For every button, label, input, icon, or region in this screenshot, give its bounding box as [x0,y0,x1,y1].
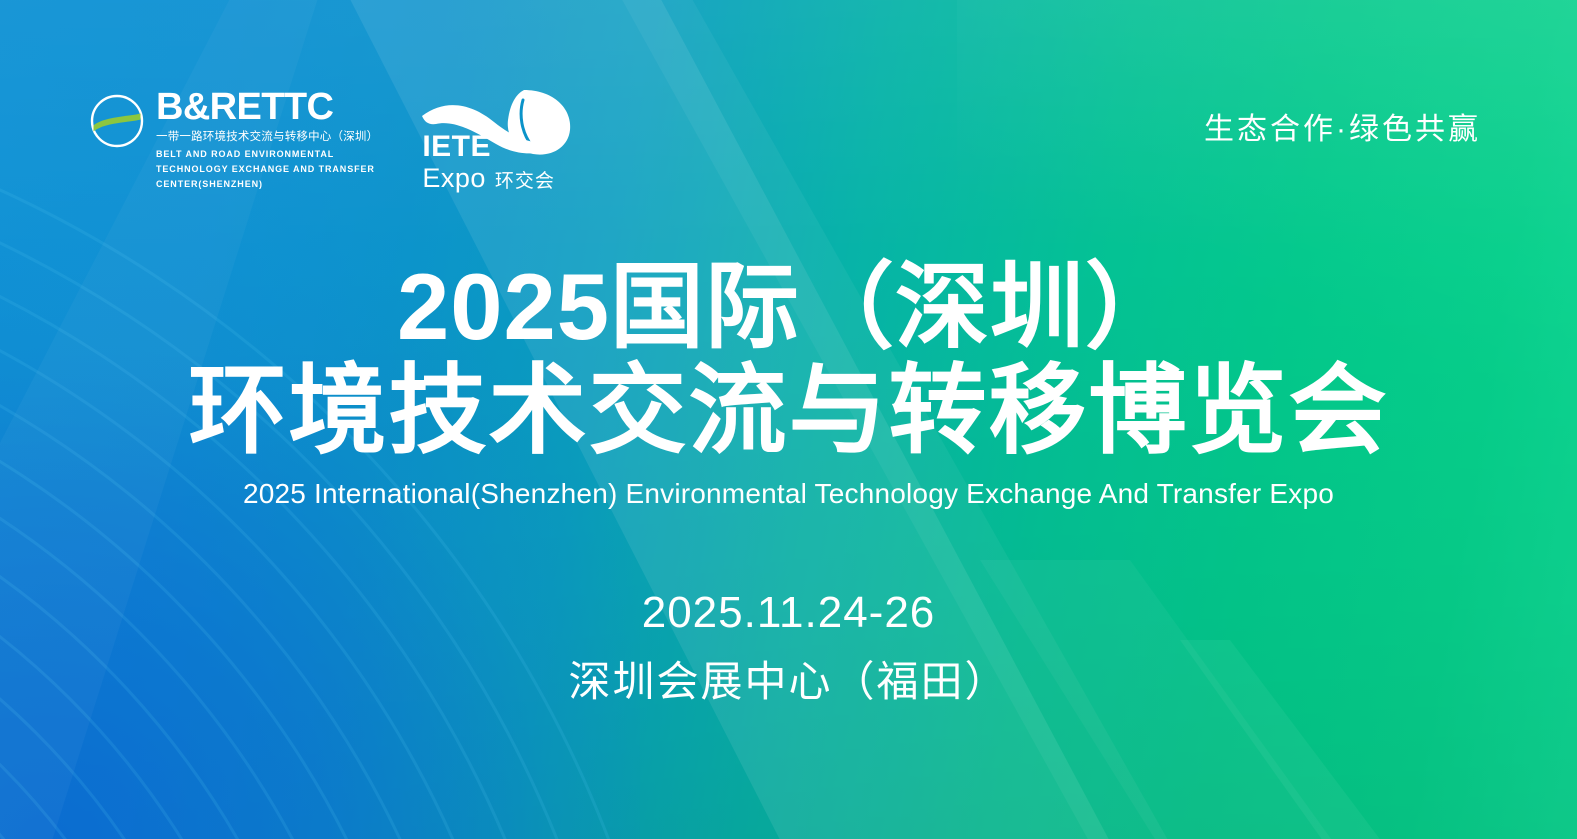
event-subtitle-english: 2025 International(Shenzhen) Environment… [0,478,1577,510]
event-headline-block: 2025国际（深圳） 环境技术交流与转移博览会 2025 Internation… [0,258,1577,709]
logo-row: B&RETTC 一带一路环境技术交流与转移中心（深圳） BELT AND ROA… [88,88,584,192]
iete-expo-logo[interactable]: IETE Expo 环交会 [420,88,584,192]
brettc-english-line-3: CENTER(SHENZHEN) [156,178,378,191]
globe-icon [88,92,146,150]
brettc-english-line-1: BELT AND ROAD ENVIRONMENTAL [156,148,378,161]
event-venue: 深圳会展中心（福田） [0,648,1577,709]
brettc-english-line-2: TECHNOLOGY EXCHANGE AND TRANSFER [156,163,378,176]
brettc-chinese-name: 一带一路环境技术交流与转移中心（深圳） [156,130,378,146]
iete-acronym: IETE [422,132,555,162]
event-banner: B&RETTC 一带一路环境技术交流与转移中心（深圳） BELT AND ROA… [0,0,1577,839]
brettc-wordmark: B&RETTC [156,88,378,126]
iete-chinese-name: 环交会 [495,172,555,191]
iete-expo-word: Expo [422,165,486,192]
event-tagline: 生态合作·绿色共赢 [1204,104,1481,148]
brettc-logo[interactable]: B&RETTC 一带一路环境技术交流与转移中心（深圳） BELT AND ROA… [88,88,378,191]
event-date: 2025.11.24-26 [0,588,1577,638]
event-title-line-2: 环境技术交流与转移博览会 [0,360,1577,462]
event-title-line-1: 2025国际（深圳） [0,258,1577,356]
